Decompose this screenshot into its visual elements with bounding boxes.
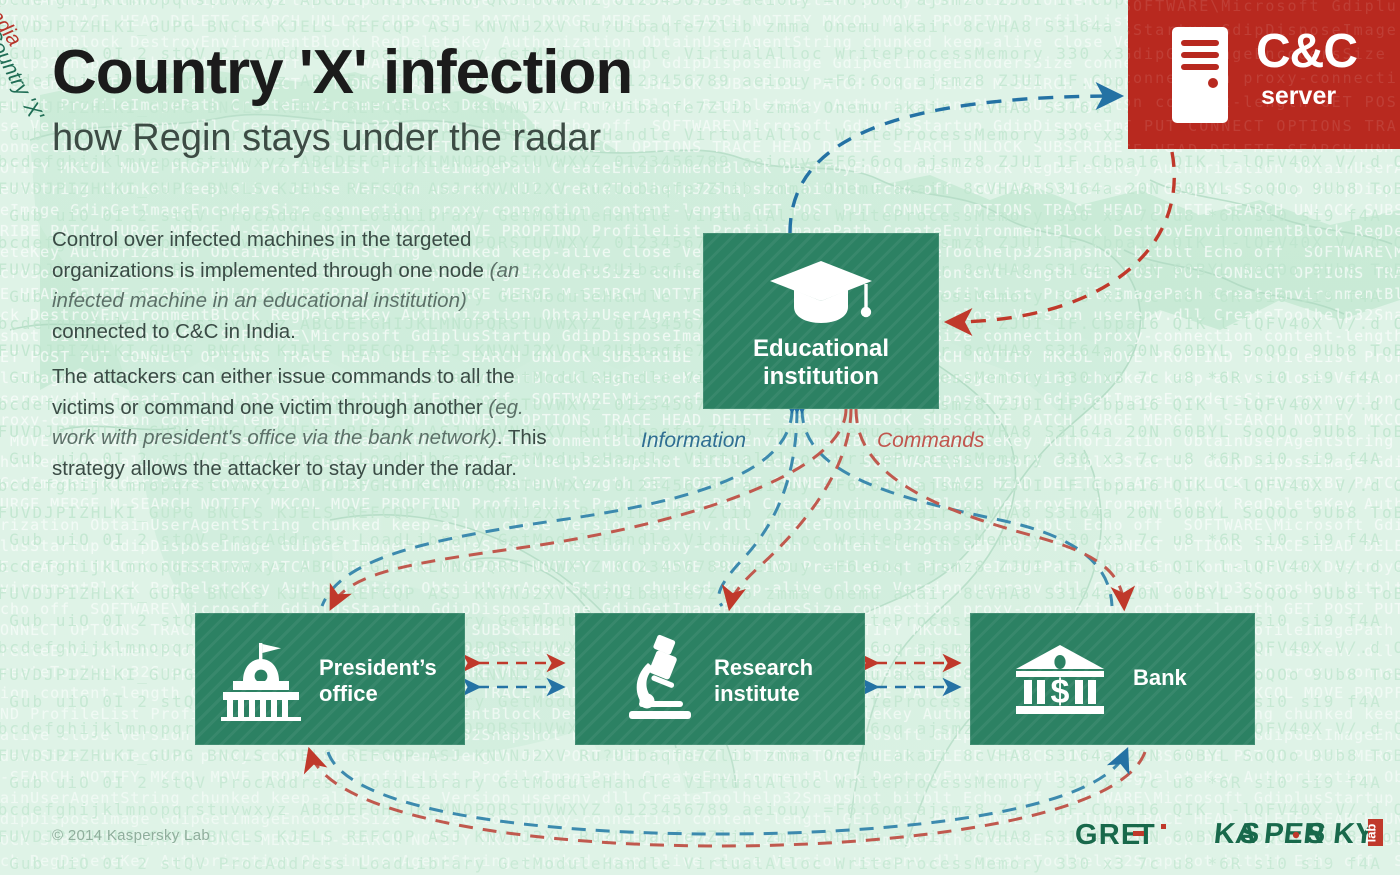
pres-label-line-1: President’s bbox=[319, 655, 437, 680]
label-information: Information bbox=[641, 429, 746, 453]
microscope-icon bbox=[621, 635, 697, 723]
bank-building-icon: $ bbox=[1014, 643, 1106, 715]
bank-label-line-1: Bank bbox=[1133, 665, 1187, 690]
cc-server-subtitle: server bbox=[1261, 82, 1336, 111]
svg-text:GRE: GRE bbox=[1075, 819, 1141, 851]
res-label-line-1: Research bbox=[714, 655, 813, 680]
great-logo: GRE T bbox=[1075, 818, 1199, 852]
node-bank[interactable]: $ Bank bbox=[970, 613, 1255, 745]
cc-server-node[interactable]: SOFTWARE\Microsoft GdiplusStartup GdipDi… bbox=[1128, 0, 1400, 149]
svg-text:lab: lab bbox=[1364, 824, 1379, 843]
node-research-institute-label: Research institute bbox=[714, 655, 813, 706]
kaspersky-logo: KA PER KY S S lab bbox=[1216, 816, 1392, 852]
capitol-building-icon bbox=[217, 641, 305, 721]
edu-label-line-1: Educational bbox=[753, 335, 889, 362]
node-research-institute[interactable]: Research institute bbox=[575, 613, 865, 745]
res-label-line-2: institute bbox=[714, 681, 800, 706]
node-presidents-office-label: President’s office bbox=[319, 655, 437, 706]
edu-label-line-2: institution bbox=[763, 363, 879, 390]
copyright-text: © 2014 Kaspersky Lab bbox=[52, 827, 210, 844]
node-educational-institution[interactable]: Educational institution bbox=[703, 233, 939, 409]
node-educational-institution-label: Educational institution bbox=[703, 335, 939, 391]
svg-text:S: S bbox=[1304, 818, 1327, 850]
page-subtitle: how Regin stays under the radar bbox=[52, 118, 601, 160]
infographic-canvas: SOFTWARE\Microsoft GdiplusStartup GdipDi… bbox=[0, 0, 1400, 875]
svg-text:S: S bbox=[1238, 818, 1261, 850]
paragraph-1-text-b: connected to C&C in India. bbox=[52, 320, 296, 343]
label-commands: Commands bbox=[877, 429, 984, 453]
svg-text:$: $ bbox=[1051, 673, 1070, 711]
pres-label-line-2: office bbox=[319, 681, 378, 706]
cc-server-title: C&C bbox=[1256, 28, 1357, 76]
server-tower-icon bbox=[1172, 27, 1228, 123]
page-title: Country 'X' infection bbox=[52, 42, 632, 104]
node-bank-label: Bank bbox=[1133, 665, 1187, 691]
graduation-cap-icon bbox=[766, 257, 876, 331]
